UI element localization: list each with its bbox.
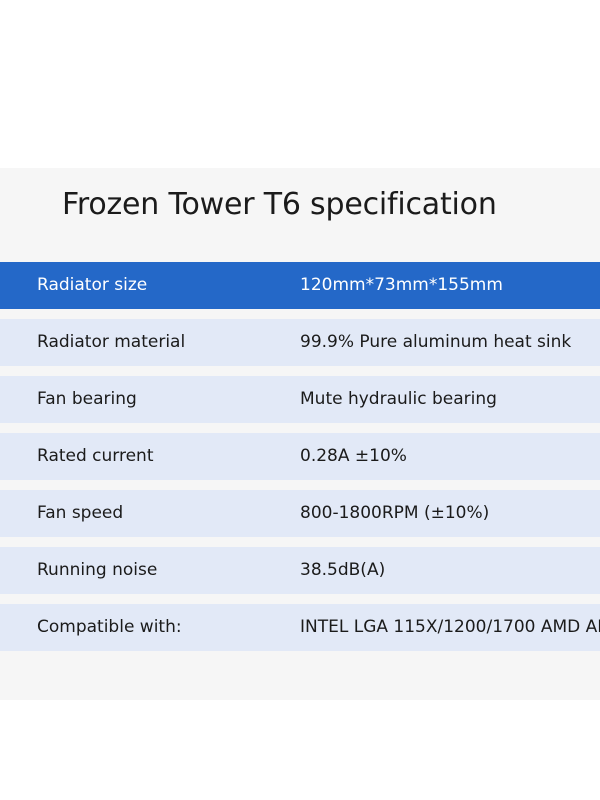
table-row: Rated current0.28A ±10%: [0, 433, 600, 480]
table-row: Fan bearingMute hydraulic bearing: [0, 376, 600, 423]
spec-label: Running noise: [37, 547, 295, 594]
spec-label: Radiator material: [37, 319, 295, 366]
table-row: Running noise38.5dB(A): [0, 547, 600, 594]
spec-label: Fan speed: [37, 490, 295, 537]
spec-panel: Frozen Tower T6 specification Radiator s…: [0, 168, 600, 700]
spec-value: 0.28A ±10%: [300, 433, 600, 480]
spec-value: Mute hydraulic bearing: [300, 376, 600, 423]
spec-value: 120mm*73mm*155mm: [300, 262, 600, 309]
page-title: Frozen Tower T6 specification: [0, 184, 600, 226]
spec-label: Radiator size: [37, 262, 295, 309]
table-row: Compatible with:INTEL LGA 115X/1200/1700…: [0, 604, 600, 651]
specification-table: Radiator size120mm*73mm*155mmRadiator ma…: [0, 262, 600, 661]
table-row: Radiator size120mm*73mm*155mm: [0, 262, 600, 309]
spec-label: Compatible with:: [37, 604, 295, 651]
spec-label: Rated current: [37, 433, 295, 480]
table-row: Fan speed800-1800RPM (±10%): [0, 490, 600, 537]
spec-value: INTEL LGA 115X/1200/1700 AMD AM4/5: [300, 604, 600, 651]
spec-value: 38.5dB(A): [300, 547, 600, 594]
spec-value: 800-1800RPM (±10%): [300, 490, 600, 537]
spec-value: 99.9% Pure aluminum heat sink: [300, 319, 600, 366]
spec-page: Frozen Tower T6 specification Radiator s…: [0, 0, 600, 800]
table-row: Radiator material99.9% Pure aluminum hea…: [0, 319, 600, 366]
spec-label: Fan bearing: [37, 376, 295, 423]
